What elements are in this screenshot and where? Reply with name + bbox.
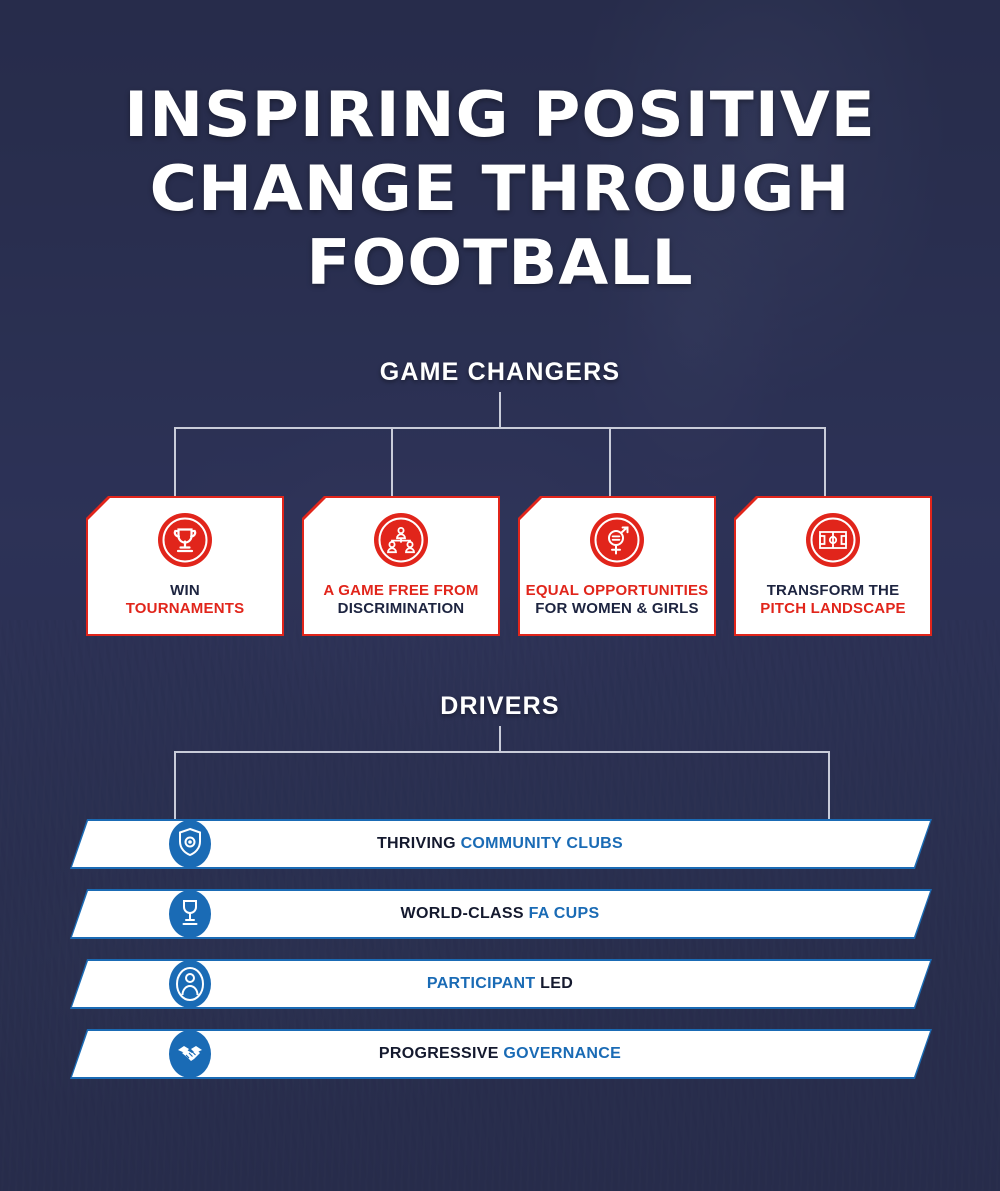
connector-dr-stem <box>499 726 501 751</box>
connector-gc-drop-1 <box>174 427 176 496</box>
driver-text-accent: COMMUNITY CLUBS <box>461 835 623 852</box>
game-changer-card-free-from-discrimination[interactable]: A GAME FREE FROM DISCRIMINATION <box>304 498 498 634</box>
card-label: WIN TOURNAMENTS <box>126 582 245 618</box>
card-line-1: EQUAL OPPORTUNITIES <box>526 582 709 600</box>
football-pitch-icon <box>805 512 861 573</box>
card-line-2: FOR WOMEN & GIRLS <box>526 600 709 618</box>
gender-equality-icon <box>589 512 645 573</box>
driver-text-plain: WORLD-CLASS <box>401 905 529 922</box>
card-line-1: WIN <box>126 582 245 600</box>
driver-label: THRIVING COMMUNITY CLUBS <box>0 821 1000 867</box>
game-changer-card-equal-opportunities[interactable]: EQUAL OPPORTUNITIES FOR WOMEN & GIRLS <box>520 498 714 634</box>
handshake-icon <box>168 1029 212 1084</box>
trophy-cup-icon <box>168 889 212 944</box>
connector-gc-drop-3 <box>609 427 611 496</box>
person-badge-icon <box>168 959 212 1014</box>
page-title: INSPIRING POSITIVE CHANGE THROUGH FOOTBA… <box>0 78 1000 300</box>
connector-dr-bus <box>174 751 830 753</box>
connector-dr-drop-left <box>174 751 176 821</box>
card-line-1: A GAME FREE FROM <box>323 582 478 600</box>
driver-label: PROGRESSIVE GOVERNANCE <box>0 1031 1000 1077</box>
connector-gc-bus <box>174 427 826 429</box>
drivers-heading: DRIVERS <box>0 692 1000 721</box>
driver-label: PARTICIPANT LED <box>0 961 1000 1007</box>
card-label: TRANSFORM THE PITCH LANDSCAPE <box>760 582 906 618</box>
infographic-root: INSPIRING POSITIVE CHANGE THROUGH FOOTBA… <box>0 0 1000 1191</box>
connector-gc-drop-2 <box>391 427 393 496</box>
trophy-icon <box>157 512 213 573</box>
connector-dr-drop-right <box>828 751 830 821</box>
driver-text-plain: THRIVING <box>377 835 461 852</box>
game-changer-card-win-tournaments[interactable]: WIN TOURNAMENTS <box>88 498 282 634</box>
driver-label: WORLD-CLASS FA CUPS <box>0 891 1000 937</box>
game-changer-card-transform-pitch[interactable]: TRANSFORM THE PITCH LANDSCAPE <box>736 498 930 634</box>
shield-football-icon <box>168 819 212 874</box>
people-network-icon <box>373 512 429 573</box>
driver-text-plain: LED <box>535 975 573 992</box>
card-label: A GAME FREE FROM DISCRIMINATION <box>323 582 478 618</box>
connector-gc-drop-4 <box>824 427 826 496</box>
driver-text-accent: FA CUPS <box>529 905 600 922</box>
game-changers-card-row: WIN TOURNAMENTS <box>0 496 1000 636</box>
card-line-2: TOURNAMENTS <box>126 600 245 618</box>
title-line-2: CHANGE THROUGH <box>0 152 1000 226</box>
card-label: EQUAL OPPORTUNITIES FOR WOMEN & GIRLS <box>526 582 709 618</box>
game-changers-heading: GAME CHANGERS <box>0 358 1000 387</box>
title-line-1: INSPIRING POSITIVE <box>0 78 1000 152</box>
card-line-1: TRANSFORM THE <box>760 582 906 600</box>
driver-text-accent: PARTICIPANT <box>427 975 535 992</box>
card-line-2: PITCH LANDSCAPE <box>760 600 906 618</box>
connector-gc-stem <box>499 392 501 428</box>
driver-text-plain: PROGRESSIVE <box>379 1045 504 1062</box>
card-line-2: DISCRIMINATION <box>323 600 478 618</box>
driver-text-accent: GOVERNANCE <box>503 1045 621 1062</box>
title-line-3: FOOTBALL <box>0 226 1000 300</box>
